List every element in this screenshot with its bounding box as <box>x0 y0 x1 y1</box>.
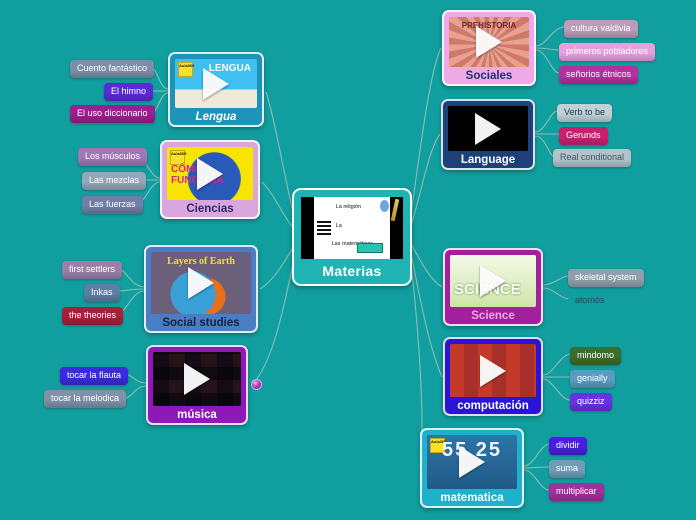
leaf-language-0[interactable]: Verb to be <box>557 104 612 122</box>
node-label-matematica: matematica <box>427 489 517 506</box>
node-label-sociales: Sociales <box>449 67 529 84</box>
leaf-ciencias-1[interactable]: Las mezclas <box>82 172 146 190</box>
central-thumbnail[interactable]: La religión La Las matemáticas <box>301 197 403 259</box>
thumbnail-title-social-studies: Layers of Earth <box>151 256 251 267</box>
thumbnail-science[interactable]: SCIENCE <box>450 255 536 307</box>
node-science[interactable]: SCIENCEScience <box>443 248 543 326</box>
node-sociales[interactable]: PREHISTORIASociales <box>442 10 536 86</box>
node-label-musica: música <box>153 406 241 423</box>
node-label-language: Language <box>448 151 528 168</box>
node-matematica[interactable]: Aula36555 25matematica <box>420 428 524 508</box>
node-ciencias[interactable]: Aula365CÓMO FUNCIONACiencias <box>160 140 260 219</box>
religion-icon <box>380 200 389 212</box>
leaf-musica-0[interactable]: tocar la flauta <box>60 367 128 385</box>
collapse-dot[interactable] <box>251 379 262 390</box>
thumbnail-lengua[interactable]: Aula365LENGUA <box>175 59 257 108</box>
play-icon[interactable] <box>480 265 506 297</box>
thumbnail-computacion[interactable] <box>450 344 536 397</box>
math-icon <box>357 243 383 253</box>
leaf-language-1[interactable]: Gerunds <box>559 127 608 145</box>
leaf-ciencias-2[interactable]: Las fuerzas <box>82 196 143 214</box>
central-thumb-line-0: La religión <box>336 204 361 210</box>
leaf-science-0[interactable]: skeletal system <box>568 269 644 287</box>
leaf-lengua-1[interactable]: El himno <box>104 83 153 101</box>
play-icon[interactable] <box>475 113 501 145</box>
leaf-sociales-0[interactable]: cultura valdivia <box>564 20 638 38</box>
leaf-ciencias-0[interactable]: Los músculos <box>78 148 147 166</box>
node-lengua[interactable]: Aula365LENGUALengua <box>168 52 264 127</box>
leaf-musica-1[interactable]: tocar la melodica <box>44 390 126 408</box>
thumbnail-ciencias[interactable]: Aula365CÓMO FUNCIONA <box>167 147 253 200</box>
node-label-computacion: computación <box>450 397 536 414</box>
central-node-label: Materias <box>301 259 403 279</box>
node-computacion[interactable]: computación <box>443 337 543 416</box>
thumbnail-matematica[interactable]: Aula36555 25 <box>427 435 517 489</box>
central-thumb-line-1: La <box>336 223 342 229</box>
leaf-language-2[interactable]: Real conditional <box>553 149 631 167</box>
central-node-materias[interactable]: La religión La Las matemáticas Materias <box>292 188 412 286</box>
play-icon[interactable] <box>480 355 506 387</box>
play-icon[interactable] <box>203 68 229 100</box>
aula365-badge-icon: Aula365 <box>170 150 185 165</box>
play-icon[interactable] <box>459 446 485 478</box>
play-icon[interactable] <box>197 158 223 190</box>
thumbnail-social-studies[interactable]: Layers of Earth <box>151 252 251 314</box>
leaf-lengua-0[interactable]: Cuento fantástico <box>70 60 154 78</box>
thumbnail-sociales[interactable]: PREHISTORIA <box>449 17 529 67</box>
node-label-social-studies: Social studies <box>151 314 251 331</box>
node-musica[interactable]: música <box>146 345 248 425</box>
node-label-science: Science <box>450 307 536 324</box>
play-icon[interactable] <box>476 26 502 58</box>
leaf-matematica-0[interactable]: dividir <box>549 437 587 455</box>
play-icon[interactable] <box>184 363 210 395</box>
thumbnail-language[interactable] <box>448 106 528 151</box>
leaf-social-studies-2[interactable]: the theories <box>62 307 123 325</box>
node-language[interactable]: Language <box>441 99 535 170</box>
leaf-social-studies-1[interactable]: Inkas <box>84 284 120 302</box>
leaf-matematica-1[interactable]: suma <box>549 460 585 478</box>
leaf-computacion-2[interactable]: quizziz <box>570 393 612 411</box>
leaf-science-1[interactable]: atomós <box>568 292 612 310</box>
thumbnail-musica[interactable] <box>153 352 241 406</box>
node-label-ciencias: Ciencias <box>167 200 253 217</box>
pencil-icon <box>391 199 399 221</box>
leaf-sociales-2[interactable]: señorios étnicos <box>559 66 638 84</box>
node-social-studies[interactable]: Layers of EarthSocial studies <box>144 245 258 333</box>
play-icon[interactable] <box>188 267 214 299</box>
leaf-computacion-1[interactable]: genially <box>570 370 615 388</box>
node-label-lengua: Lengua <box>175 108 257 125</box>
leaf-computacion-0[interactable]: mindomo <box>570 347 621 365</box>
leaf-matematica-2[interactable]: multiplicar <box>549 483 604 501</box>
mindmap-canvas[interactable]: La religión La Las matemáticas Materias … <box>0 0 696 520</box>
leaf-lengua-2[interactable]: El uso diccionario <box>70 105 155 123</box>
leaf-social-studies-0[interactable]: first settlers <box>62 261 122 279</box>
leaf-sociales-1[interactable]: primeros pobladores <box>559 43 655 61</box>
music-note-icon <box>317 219 331 235</box>
